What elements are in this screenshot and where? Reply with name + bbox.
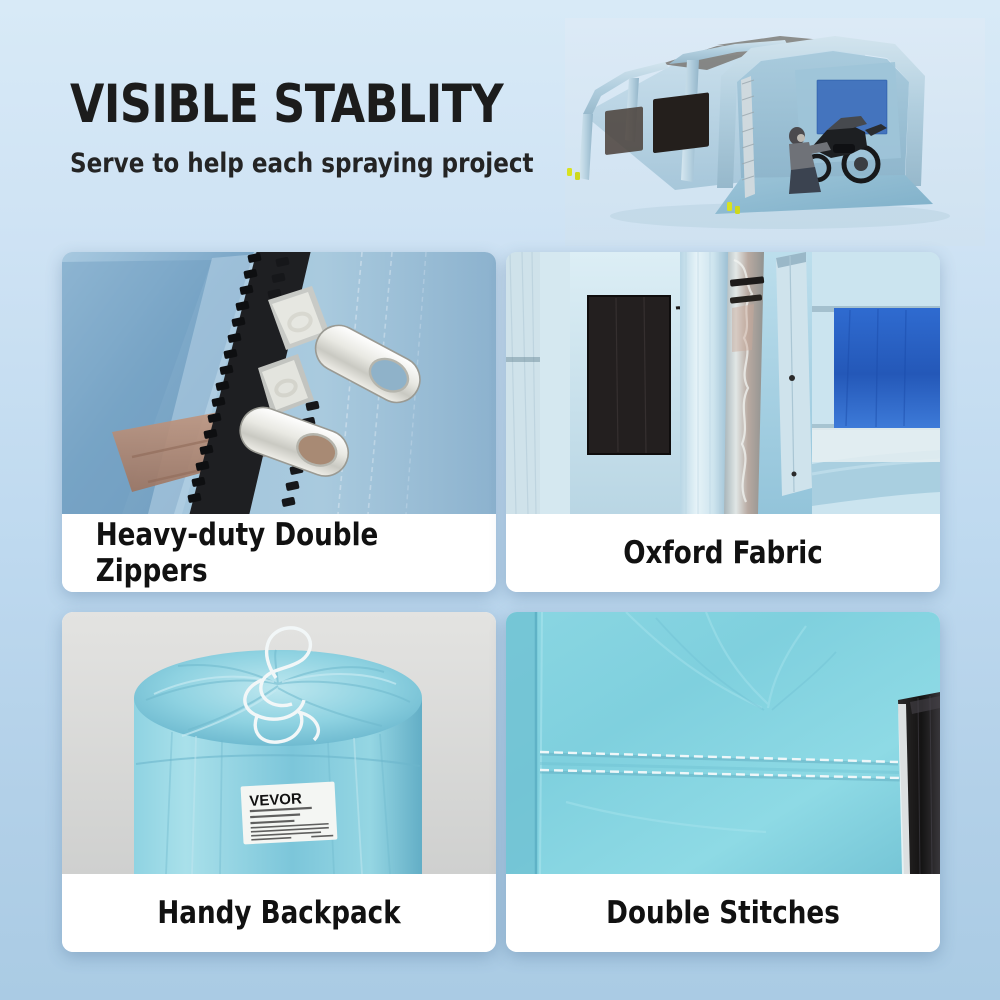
feature-card-oxford: Oxford Fabric: [506, 252, 940, 592]
svg-text:VEVOR: VEVOR: [249, 790, 302, 810]
caption-backpack-label: Handy Backpack: [75, 895, 483, 931]
header-block: VISIBLE STABLITY Serve to help each spra…: [70, 78, 590, 179]
caption-oxford-label: Oxford Fabric: [519, 535, 927, 571]
backpack-illustration: VEVOR: [62, 612, 496, 874]
oxford-fabric-wall-photo: [506, 252, 940, 514]
caption-backpack: Handy Backpack: [62, 874, 496, 952]
oxford-fabric-illustration: [506, 252, 940, 514]
double-stitching-photo: [506, 612, 940, 874]
inflatable-spray-booth-illustration: [565, 18, 985, 246]
page-subtitle: Serve to help each spraying project: [70, 148, 564, 179]
feature-card-backpack: VEVOR Handy Backpack: [62, 612, 496, 952]
page-title: VISIBLE STABLITY: [70, 78, 554, 132]
double-stitches-illustration: [506, 612, 940, 874]
feature-card-stitches: Double Stitches: [506, 612, 940, 952]
caption-oxford: Oxford Fabric: [506, 514, 940, 592]
caption-stitches: Double Stitches: [506, 874, 940, 952]
feature-card-zippers: Heavy-duty Double Zippers: [62, 252, 496, 592]
storage-backpack-photo: VEVOR: [62, 612, 496, 874]
vevor-product-label: VEVOR: [241, 782, 338, 845]
caption-stitches-label: Double Stitches: [519, 895, 927, 931]
zipper-illustration: [62, 252, 496, 514]
caption-zippers-label: Heavy-duty Double Zippers: [75, 517, 483, 589]
hero-product-image: [565, 18, 985, 246]
zipper-closeup-photo: [62, 252, 496, 514]
caption-zippers: Heavy-duty Double Zippers: [62, 514, 496, 592]
